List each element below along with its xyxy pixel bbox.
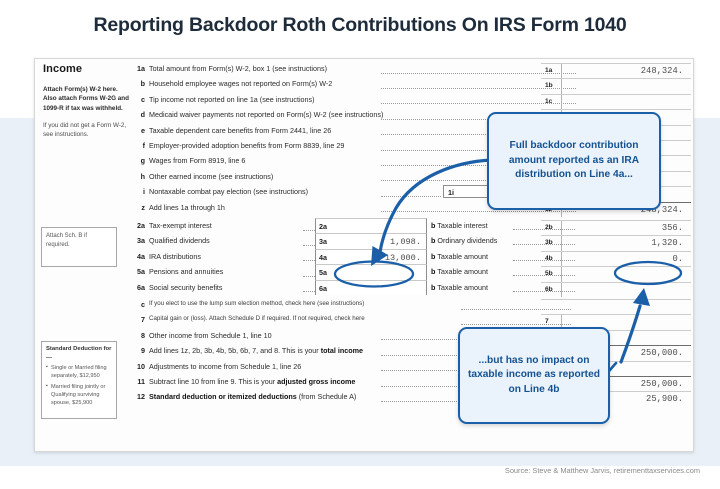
- midvalue-tag: 2a: [319, 222, 327, 231]
- amount-line-tag: 4b: [545, 255, 553, 262]
- amount-line-tag: 6b: [545, 286, 553, 293]
- form-line-1c: cTip income not reported on line 1a (see…: [131, 94, 561, 109]
- line-number: d: [131, 110, 145, 119]
- amount-line-tag: 1b: [545, 82, 553, 89]
- line-number: g: [131, 156, 145, 165]
- line-label: Employer-provided adoption benefits from…: [149, 141, 344, 150]
- line-label: Subtract line 10 from line 9. This is yo…: [149, 377, 355, 386]
- amount-value: 356.: [662, 223, 683, 233]
- line-label: Taxable dependent care benefits from For…: [149, 126, 331, 135]
- amount-cell-4b: 4b0.: [541, 251, 691, 266]
- amount-cell-divider: [561, 267, 562, 281]
- line-number: 10: [131, 362, 145, 371]
- line-number: b: [131, 79, 145, 88]
- midvalue-tag: 5a: [319, 268, 327, 277]
- line-label: Household employee wages not reported on…: [149, 79, 332, 88]
- line-label: If you elect to use the lump sum electio…: [149, 300, 364, 307]
- line-label: Nontaxable combat pay election (see inst…: [149, 187, 308, 196]
- midvalue-cell-4a: 4a13,000.: [315, 249, 427, 264]
- amount-value: 1,320.: [651, 238, 683, 248]
- line-number: 7: [131, 315, 145, 324]
- source-credit: Source: Steve & Matthew Jarvis, retireme…: [0, 466, 700, 475]
- line-number: 2a: [131, 221, 145, 230]
- leader-dots: [381, 196, 441, 197]
- attach-schedule-b-box: Attach Sch. B if required.: [41, 227, 117, 267]
- sub-line-b-4b: b Taxable amount: [431, 252, 488, 261]
- line-number: c: [131, 300, 145, 309]
- midvalue-tag: 4a: [319, 253, 327, 262]
- amount-cell-divider: [561, 79, 562, 93]
- attach-note-regular: If you did not get a Form W-2, see instr…: [43, 121, 131, 140]
- infographic-page: Reporting Backdoor Roth Contributions On…: [0, 0, 720, 489]
- midvalue-cell-5a: 5a: [315, 264, 427, 279]
- line-number: h: [131, 172, 145, 181]
- sub-line-b-6b: b Taxable amount: [431, 283, 488, 292]
- line-label: Medicaid waiver payments not reported on…: [149, 110, 383, 119]
- callout-top: Full backdoor contribution amount report…: [487, 112, 661, 210]
- amount-value: 248,324.: [641, 66, 683, 76]
- form-line-1b: bHousehold employee wages not reported o…: [131, 78, 561, 93]
- form-line-1a: 1aTotal amount from Form(s) W-2, box 1 (…: [131, 63, 561, 78]
- line-number: 4a: [131, 252, 145, 261]
- line-number: i: [131, 187, 145, 196]
- amount-cell-divider: [561, 252, 562, 266]
- amount-cell-divider: [561, 236, 562, 250]
- sub-line-b-5b: b Taxable amount: [431, 267, 488, 276]
- amount-value: 0.: [672, 254, 683, 264]
- line-label: Standard deduction or itemized deduction…: [149, 392, 356, 401]
- line-label: Wages from Form 8919, line 6: [149, 156, 245, 165]
- page-title: Reporting Backdoor Roth Contributions On…: [0, 14, 720, 37]
- midvalue-amount: 1,098.: [390, 237, 421, 247]
- amount-value: 25,900.: [646, 394, 683, 404]
- amount-cell-divider: [561, 221, 562, 235]
- amount-cell-1c: 1c: [541, 94, 691, 109]
- line-number: 9: [131, 346, 145, 355]
- midvalue-cell-6a: 6a: [315, 280, 427, 295]
- standard-deduction-bullet-2: Married filing jointly or Qualifying sur…: [46, 384, 112, 408]
- amount-cell-2b: 2b356.: [541, 220, 691, 235]
- standard-deduction-heading: Standard Deduction for —: [46, 345, 112, 362]
- amount-cell-6b: 6b: [541, 282, 691, 297]
- amount-line-tag: 7: [545, 318, 549, 325]
- amount-line-tag: 5b: [545, 270, 553, 277]
- amount-cell-3b: 3b1,320.: [541, 235, 691, 250]
- standard-deduction-bullet-1: Single or Married filing separately, $12…: [46, 365, 112, 381]
- inline-1i-tag: 1i: [448, 188, 454, 197]
- line-number: c: [131, 95, 145, 104]
- line-number: 5a: [131, 267, 145, 276]
- line-label: Other earned income (see instructions): [149, 172, 273, 181]
- line-number: 11: [131, 377, 145, 386]
- line-label: IRA distributions: [149, 252, 201, 261]
- amount-cell-divider: [561, 95, 562, 109]
- line-number: 8: [131, 331, 145, 340]
- line-label: Pensions and annuities: [149, 267, 223, 276]
- amount-cell-1b: 1b: [541, 78, 691, 93]
- amount-cell-divider: [561, 283, 562, 297]
- line-label: Adjustments to income from Schedule 1, l…: [149, 362, 301, 371]
- amount-line-tag: 1c: [545, 98, 552, 105]
- amount-value: 250,000.: [641, 379, 683, 389]
- midvalue-cell-2a: 2a: [315, 218, 427, 233]
- line-label: Add lines 1z, 2b, 3b, 4b, 5b, 6b, 7, and…: [149, 346, 363, 355]
- form-left-legend: Income Attach Form(s) W-2 here. Also att…: [43, 63, 131, 140]
- midvalue-tag: 6a: [319, 284, 327, 293]
- amount-value: 250,000.: [641, 348, 683, 358]
- amount-line-tag: 3b: [545, 239, 553, 246]
- line-label: Qualified dividends: [149, 236, 210, 245]
- amount-cell-divider: [561, 64, 562, 78]
- line-label: Other income from Schedule 1, line 10: [149, 331, 272, 340]
- standard-deduction-box: Standard Deduction for — Single or Marri…: [41, 341, 117, 419]
- line-number: 3a: [131, 236, 145, 245]
- amount-cell-blank: [541, 299, 691, 314]
- callout-bottom: ...but has no impact on taxable income a…: [458, 327, 610, 424]
- line-number: 1a: [131, 64, 145, 73]
- line-number: 6a: [131, 283, 145, 292]
- form-line-c: cIf you elect to use the lump sum electi…: [131, 299, 561, 314]
- line-number: 12: [131, 392, 145, 401]
- amount-cell-1a: 1a248,324.: [541, 63, 691, 78]
- midvalue-tag: 3a: [319, 237, 327, 246]
- amount-cell-5b: 5b: [541, 266, 691, 281]
- sub-line-b-2b: b Taxable interest: [431, 221, 488, 230]
- sub-line-b-3b: b Ordinary dividends: [431, 236, 497, 245]
- amount-line-tag: 2b: [545, 224, 553, 231]
- amount-line-tag: 1a: [545, 67, 552, 74]
- line-number: z: [131, 203, 145, 212]
- line-label: Tax-exempt interest: [149, 221, 212, 230]
- line-number: e: [131, 126, 145, 135]
- line-label: Tip income not reported on line 1a (see …: [149, 95, 315, 104]
- line-label: Total amount from Form(s) W-2, box 1 (se…: [149, 64, 327, 73]
- income-heading: Income: [43, 63, 131, 75]
- line-number: f: [131, 141, 145, 150]
- line-label: Add lines 1a through 1h: [149, 203, 225, 212]
- midvalue-amount: 13,000.: [385, 253, 421, 263]
- line-label: Social security benefits: [149, 283, 223, 292]
- line-label: Capital gain or (loss). Attach Schedule …: [149, 315, 365, 322]
- attach-note-bold: Attach Form(s) W-2 here. Also attach For…: [43, 85, 131, 113]
- midvalue-cell-3a: 3a1,098.: [315, 233, 427, 248]
